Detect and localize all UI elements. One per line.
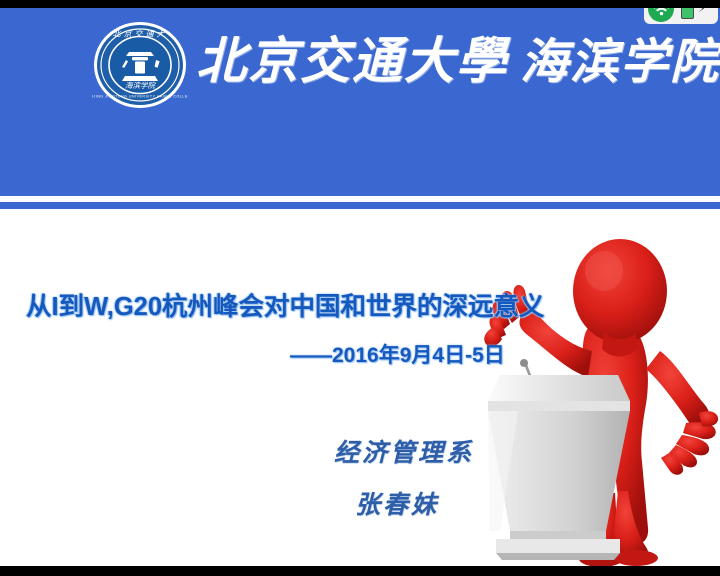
slide-subtitle-date: ——2016年9月4日-5日 (290, 339, 630, 369)
school-name-secondary: 海滨学院 (520, 36, 720, 89)
school-name-primary: 北京交通大學 (196, 33, 508, 89)
school-crest-emblem: 海滨学院 BEIJING JIAOTONG UNIVERSITY HAIBIN … (92, 20, 188, 110)
school-name-heading: 北京交通大學海滨学院 (196, 24, 616, 96)
svg-text:BEIJING JIAOTONG UNIVERSITY HA: BEIJING JIAOTONG UNIVERSITY HAIBIN COLLE… (92, 95, 188, 99)
presenter-name: 张春妹 (355, 485, 439, 521)
svg-text:北京交通大: 北京交通大 (113, 30, 168, 39)
svg-text:海滨学院: 海滨学院 (125, 81, 156, 90)
slide-main-title: 从I到W,G20杭州峰会对中国和世界的深远意义 (26, 286, 586, 323)
red-speaker-at-podium-illustration (470, 223, 720, 566)
video-player-screen: 海滨学院 BEIJING JIAOTONG UNIVERSITY HAIBIN … (0, 0, 720, 576)
presentation-slide: 海滨学院 BEIJING JIAOTONG UNIVERSITY HAIBIN … (0, 8, 720, 566)
letterbox-bar-bottom (0, 566, 720, 576)
department-label: 经济管理系 (334, 433, 474, 469)
header-accent-rule (0, 202, 720, 209)
letterbox-bar-top (0, 0, 720, 8)
